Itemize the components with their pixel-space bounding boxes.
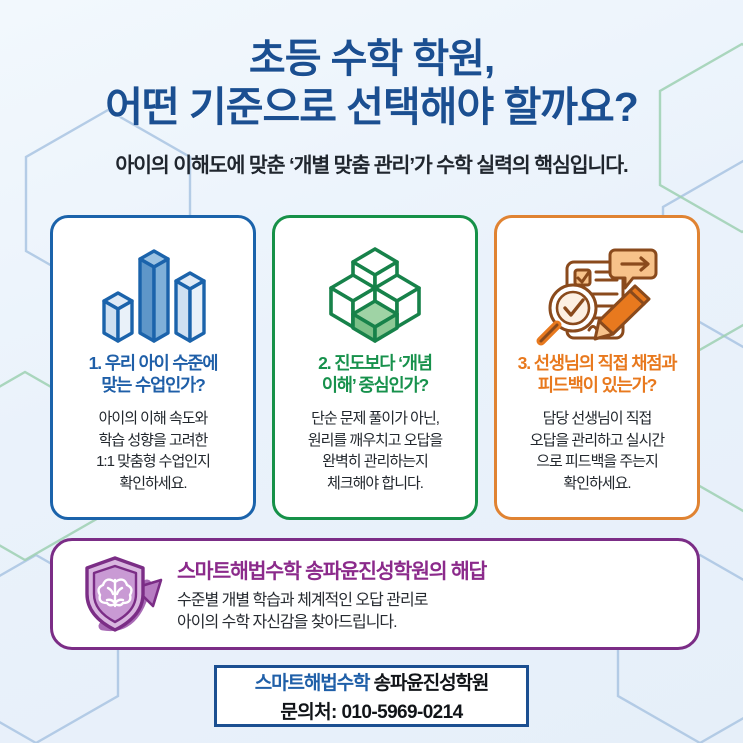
header: 초등 수학 학원, 어떤 기준으로 선택해야 할까요? 아이의 이해도에 맞춘 … bbox=[0, 0, 743, 178]
page-subtitle: 아이의 이해도에 맞춘 ‘개별 맞춤 관리’가 수학 실력의 핵심입니다. bbox=[0, 148, 743, 178]
shield-brain-arrow-icon bbox=[75, 550, 167, 638]
criteria-card-1-body: 아이의 이해 속도와학습 성향을 고려한1:1 맞춤형 수업인지확인하세요. bbox=[88, 408, 218, 495]
criteria-card-3-body: 담당 선생님이 직접오답을 관리하고 실시간으로 피드백을 주는지확인하세요. bbox=[522, 408, 672, 495]
footer-contact-box[interactable]: 스마트해법수학 송파윤진성학원 문의처: 010-5969-0214 bbox=[214, 665, 529, 727]
criteria-card-2-body: 단순 문제 풀이가 아닌,원리를 깨우치고 오답을완벽히 관리하는지체크해야 합… bbox=[300, 408, 450, 495]
criteria-card-3[interactable]: 3. 선생님의 직접 채점과피드백이 있는가? 담당 선생님이 직접오답을 관리… bbox=[494, 215, 700, 520]
criteria-card-2[interactable]: 2. 진도보다 ‘개념이해’ 중심인가? 단순 문제 풀이가 아닌,원리를 깨우… bbox=[272, 215, 478, 520]
answer-subtitle: 수준별 개별 학습과 체계적인 오답 관리로아이의 수학 자신감을 찾아드립니다… bbox=[177, 590, 486, 634]
isometric-cubes-icon bbox=[323, 240, 427, 350]
footer-contact: 문의처: 010-5969-0214 bbox=[280, 697, 462, 724]
bar-chart-3d-icon bbox=[94, 240, 212, 350]
checklist-magnifier-pencil-icon bbox=[533, 240, 661, 350]
answer-text-block: 스마트해법수학 송파윤진성학원의 해답 수준별 개별 학습과 체계적인 오답 관… bbox=[177, 554, 486, 634]
criteria-card-1-title: 1. 우리 아이 수준에맞는 수업인가? bbox=[83, 352, 224, 397]
footer-academy: 송파윤진성학원 bbox=[374, 673, 489, 694]
page-title-line-2: 어떤 기준으로 선택해야 할까요? bbox=[0, 83, 743, 131]
answer-title: 스마트해법수학 송파윤진성학원의 해답 bbox=[177, 554, 486, 584]
criteria-card-3-title: 3. 선생님의 직접 채점과피드백이 있는가? bbox=[512, 352, 683, 397]
footer-brand: 스마트해법수학 bbox=[255, 673, 370, 694]
page-title-line-1: 초등 수학 학원, bbox=[0, 36, 743, 83]
criteria-card-2-title: 2. 진도보다 ‘개념이해’ 중심인가? bbox=[312, 352, 438, 397]
footer-name-line: 스마트해법수학 송파윤진성학원 bbox=[255, 668, 489, 695]
answer-panel[interactable]: 스마트해법수학 송파윤진성학원의 해답 수준별 개별 학습과 체계적인 오답 관… bbox=[50, 538, 700, 650]
criteria-card-list: 1. 우리 아이 수준에맞는 수업인가? 아이의 이해 속도와학습 성향을 고려… bbox=[50, 215, 700, 520]
criteria-card-1[interactable]: 1. 우리 아이 수준에맞는 수업인가? 아이의 이해 속도와학습 성향을 고려… bbox=[50, 215, 256, 520]
poster-root: 초등 수학 학원, 어떤 기준으로 선택해야 할까요? 아이의 이해도에 맞춘 … bbox=[0, 0, 743, 743]
